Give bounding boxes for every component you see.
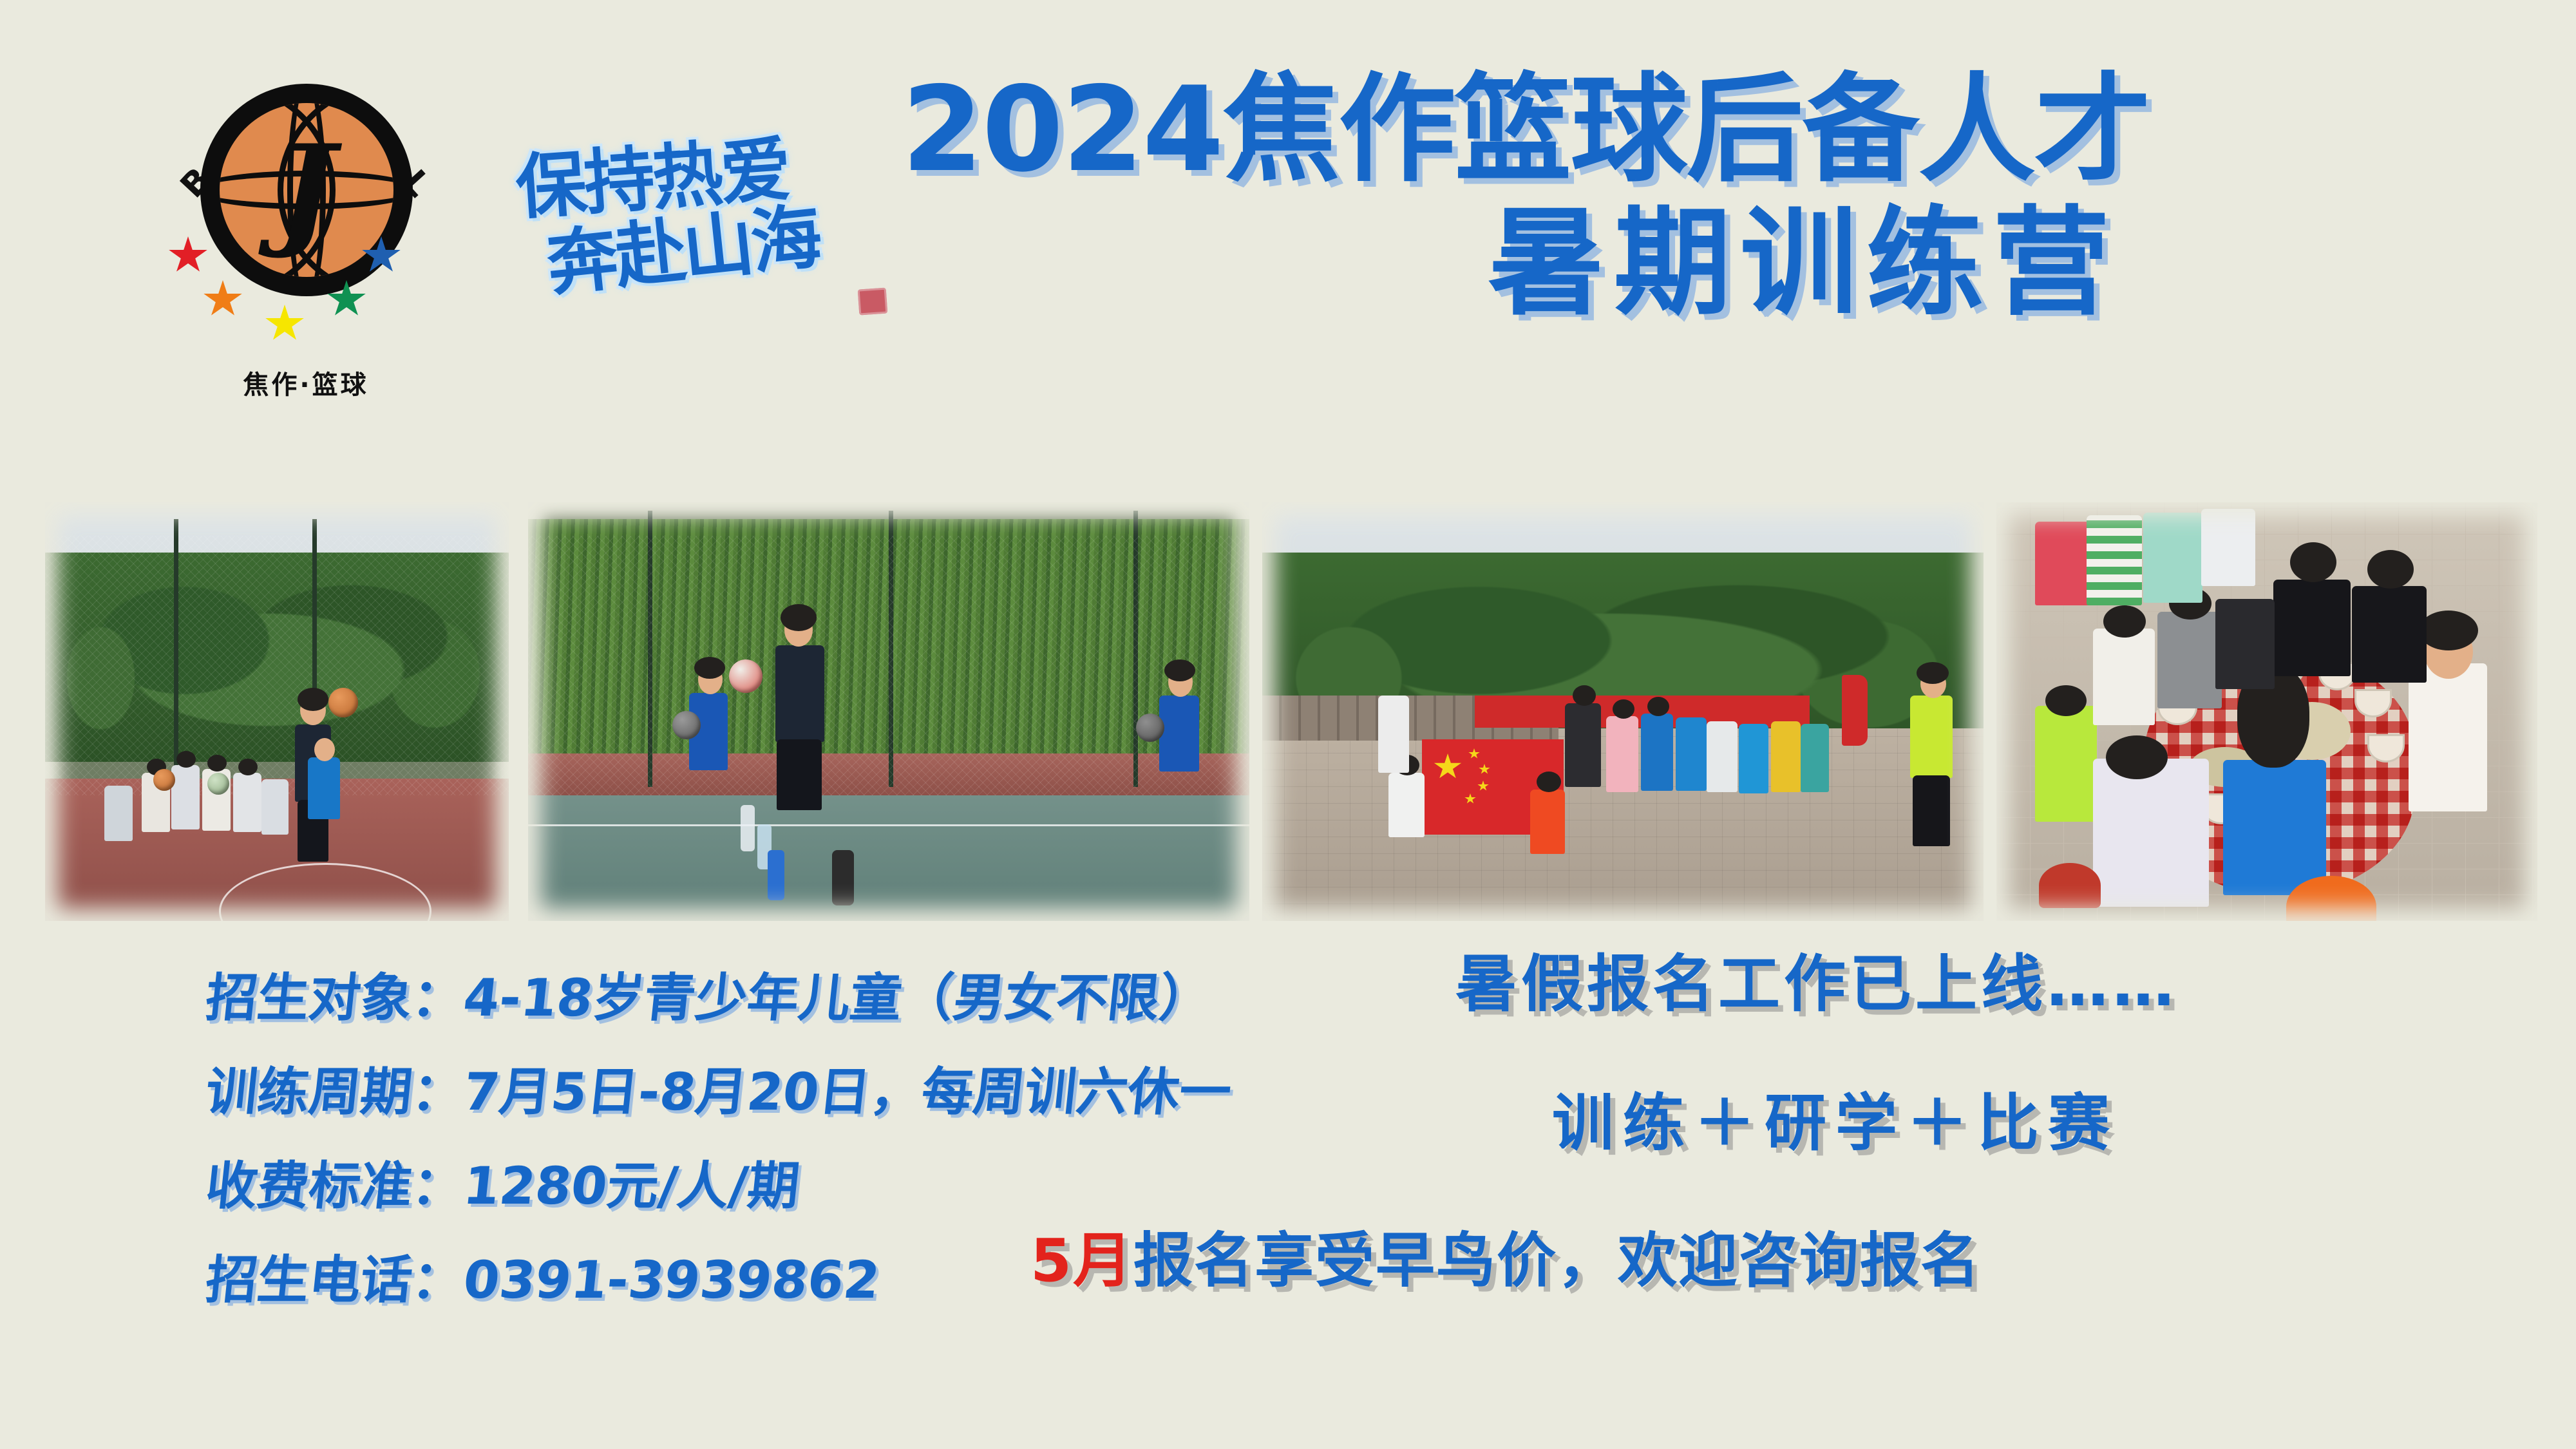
title-line-2: 暑期训练营: [902, 196, 2512, 330]
photo3-marcher-5: [1707, 721, 1738, 792]
photo4-kid-black-2-hair: [2367, 550, 2414, 589]
photo4-kid-pastel: [2093, 759, 2209, 907]
photo3-side-coach-body: [1910, 696, 1953, 778]
photo2-bottle-1: [741, 805, 755, 851]
info-line-audience: 招生对象：4-18岁青少年儿童（男女不限）: [204, 972, 1432, 1024]
photo1-child-4-hair: [238, 759, 258, 775]
photo3-marcher-1: [1565, 703, 1601, 787]
promo-early-bird: 5月报名享受早鸟价，欢迎咨询报名: [1030, 1231, 2512, 1291]
photo1-light-pole-left: [174, 519, 178, 779]
photo4-kid-blue: [2223, 760, 2326, 895]
logo-caption: 焦作·篮球: [145, 364, 467, 401]
photo4-kid-white-hair: [2419, 611, 2478, 650]
photo4-kid-green-hair: [2045, 685, 2087, 716]
photo4-kid-grey: [2157, 612, 2222, 708]
photo3-marcher-4: [1676, 717, 1707, 791]
photo2-child-right-hair: [1164, 659, 1195, 681]
photo2-thermos: [832, 850, 854, 905]
photo4-kid-green: [2035, 706, 2097, 822]
red-seal-stamp-icon: [858, 288, 888, 316]
photo4-red-stool: [2039, 863, 2101, 908]
promo-early-bird-month: 5月: [1030, 1226, 1133, 1295]
photo4-kid-dark: [2215, 599, 2275, 689]
promo-registration-open: 暑假报名工作已上线……: [1455, 953, 2512, 1015]
photo1-child-3-hair: [207, 755, 227, 772]
photo3-side-coach-pants: [1913, 775, 1950, 846]
photo3-marcher-6: [1739, 724, 1768, 793]
photo3-bearer-right: [1530, 790, 1565, 854]
photo2-court-line: [528, 824, 1249, 826]
poster-canvas: BASKETBALL J 焦作·篮球 保持热爱 奔赴山海 2024焦作篮球后备人…: [0, 0, 2576, 1449]
photo2-ball-right: [1136, 714, 1164, 742]
title-line-1: 2024焦作篮球后备人才: [902, 64, 2512, 196]
photo3-bearer-left: [1388, 773, 1425, 837]
photo4-kid-red-bg: [2035, 522, 2090, 605]
promo-early-bird-rest: 报名享受早鸟价，欢迎咨询报名: [1133, 1226, 1981, 1295]
info-line-period: 训练周期：7月5日-8月20日，每周训六休一: [204, 1066, 1432, 1118]
photo3-marcher-9: [1378, 696, 1409, 773]
photo1-ball-2: [153, 769, 175, 791]
photo3-red-pennant: [1842, 675, 1868, 746]
photo4-kid-black-1-hair: [2290, 542, 2336, 582]
photo-outdoor-court-drill: [45, 502, 509, 921]
photo2-basketball: [729, 659, 762, 693]
photo4-kid-glasses-hair: [2103, 605, 2146, 638]
photo1-coach-hair: [298, 688, 328, 711]
photo3-side-coach-hair: [1917, 662, 1949, 684]
photo3-marcher-8: [1801, 724, 1829, 792]
photo4-kid-white-bg: [2201, 509, 2255, 586]
photo3-marcher-7: [1771, 721, 1801, 792]
photo4-kid-pastel-hair: [2106, 735, 2168, 779]
photo1-child-4: [233, 773, 261, 832]
poster-title: 2024焦作篮球后备人才 暑期训练营: [902, 64, 2512, 330]
photo1-child-2-hair: [176, 751, 196, 768]
photo3-flag-big-star: [1434, 753, 1462, 781]
star-yellow-icon: [265, 305, 305, 343]
photo-campers-dining: [1996, 502, 2537, 921]
photo1-child-5: [261, 779, 289, 835]
photo4-kid-mint-bg: [2143, 513, 2202, 603]
photo4-kid-black-2: [2352, 586, 2427, 683]
photo3-marcher-2: [1606, 716, 1638, 792]
photo4-kid-stripe-bg: [2087, 515, 2142, 605]
photo2-child-left-hair: [694, 657, 725, 679]
photo-strip: [0, 502, 2576, 927]
photo2-child-right-body: [1159, 696, 1199, 772]
photo3-flag-small-star-4: [1464, 793, 1476, 804]
photo3-flag-small-star-1: [1468, 748, 1480, 759]
photo1-ball-3: [207, 773, 229, 795]
star-orange-icon: [203, 280, 243, 319]
photo3-bearer-right-hair: [1537, 772, 1561, 792]
photo2-bag: [768, 850, 784, 900]
photo3-flag-small-star-3: [1477, 781, 1489, 791]
photo3-marcher-2-hair: [1613, 699, 1634, 719]
photo3-marcher-1-hair: [1573, 685, 1596, 706]
photo4-kid-white-tank: [2409, 663, 2487, 811]
photo1-child-face: [314, 738, 335, 761]
basketball-icon: J: [200, 84, 413, 296]
photo4-kid-glasses: [2093, 629, 2155, 725]
photo1-basketball: [328, 688, 358, 717]
info-line-fee: 收费标准：1280元/人/期: [204, 1160, 1432, 1212]
photo3-marcher-3-hair: [1647, 697, 1669, 716]
photo2-court-surface: [528, 795, 1249, 921]
photo-coach-dribbling-demo: [528, 502, 1249, 921]
photo1-child-6: [104, 786, 133, 841]
slogan-block: 保持热爱 奔赴山海: [513, 126, 916, 397]
photo4-kid-black-1: [2273, 580, 2351, 676]
club-logo: BASKETBALL J 焦作·篮球: [145, 48, 467, 409]
photo2-coach-shorts: [777, 739, 822, 810]
photo1-fence: [45, 536, 509, 795]
photo2-ball-left: [672, 711, 701, 739]
photo1-child-2: [171, 765, 200, 829]
photo3-marcher-3: [1641, 714, 1673, 791]
photo-flag-march-research-base: [1262, 502, 1984, 921]
photo3-flag-small-star-2: [1479, 764, 1490, 775]
promo-messages: 暑假报名工作已上线…… 训练＋研学＋比赛 5月报名享受早鸟价，欢迎咨询报名: [1417, 953, 2512, 1291]
star-red-icon: [168, 236, 208, 275]
photo1-child-blue-jersey: [308, 757, 340, 819]
photo2-fence-mesh: [528, 536, 1249, 795]
photo2-coach-body: [775, 645, 824, 742]
promo-program-formula: 训练＋研学＋比赛: [1552, 1092, 2512, 1154]
photo2-coach-hair: [781, 604, 817, 631]
